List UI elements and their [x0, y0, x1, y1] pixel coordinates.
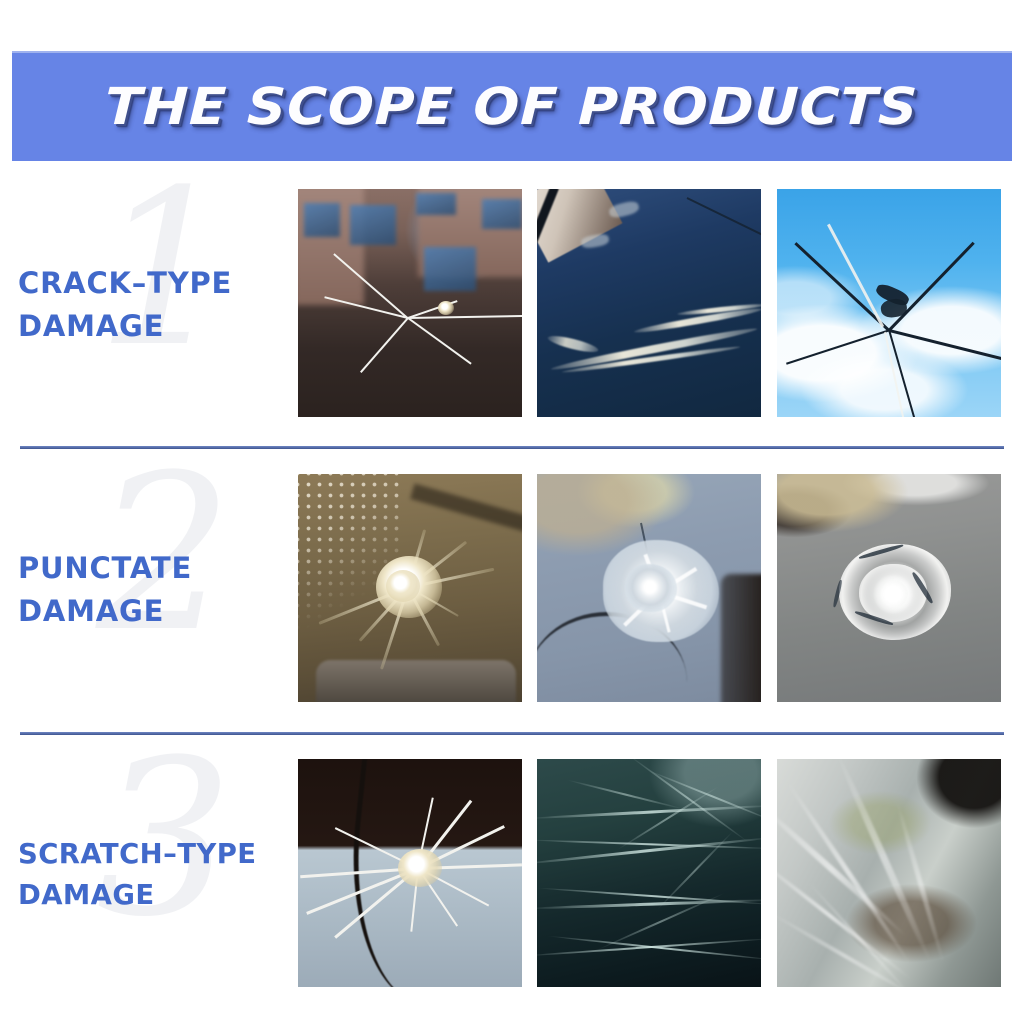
- page-title: THE SCOPE OF PRODUCTS: [104, 78, 919, 137]
- photo-scratched-teal-glass: [537, 759, 761, 987]
- photo-star-chip-tan-glass: [298, 474, 522, 702]
- header-banner: THE SCOPE OF PRODUCTS: [12, 51, 1012, 161]
- section-label-crack-type: CRACK–TYPE DAMAGE: [18, 189, 298, 420]
- section-row-crack-type: 1 CRACK–TYPE DAMAGE: [0, 189, 1024, 420]
- section-label-line-2: DAMAGE: [18, 875, 298, 916]
- section-row-punctate: 2 PUNCTATE DAMAGE: [0, 474, 1024, 705]
- section-label-line-1: CRACK–TYPE: [18, 262, 298, 305]
- section-divider-2: [20, 732, 1004, 735]
- section-label-line-1: PUNCTATE: [18, 547, 298, 590]
- section-label-scratch-type: SCRATCH–TYPE DAMAGE: [18, 759, 298, 990]
- section-row-scratch-type: 3 SCRATCH–TYPE DAMAGE: [0, 759, 1024, 990]
- section-label-punctate: PUNCTATE DAMAGE: [18, 474, 298, 705]
- photo-long-crack-blue-glass: [537, 189, 761, 417]
- photo-bullseye-grey-blue-glass: [537, 474, 761, 702]
- photo-round-chip-grey-glass: [777, 474, 1001, 702]
- photo-hazy-scratched-glass: [777, 759, 1001, 987]
- photo-crack-over-building: [298, 189, 522, 417]
- photo-cracks-blue-sky: [777, 189, 1001, 417]
- section-divider-1: [20, 446, 1004, 449]
- section-label-line-1: SCRATCH–TYPE: [18, 834, 298, 875]
- section-label-line-2: DAMAGE: [18, 590, 298, 633]
- photo-star-break-radiating: [298, 759, 522, 987]
- section-label-line-2: DAMAGE: [18, 305, 298, 348]
